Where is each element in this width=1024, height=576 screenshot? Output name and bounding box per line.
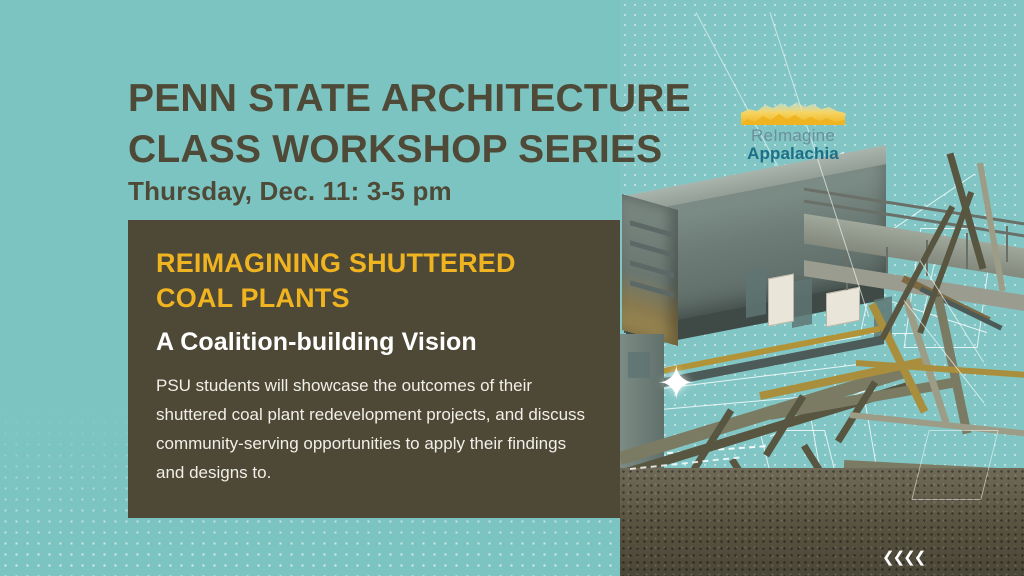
panel-body-text: PSU students will showcase the outcomes …	[156, 372, 590, 488]
event-details-panel: REIMAGINING SHUTTERED COAL PLANTS A Coal…	[128, 220, 620, 518]
panel-title-line-2: COAL PLANTS	[156, 281, 590, 316]
panel-title-line-1: REIMAGINING SHUTTERED	[156, 246, 590, 281]
headline-line-1: PENN STATE ARCHITECTURE	[128, 74, 728, 125]
page-title: PENN STATE ARCHITECTURE CLASS WORKSHOP S…	[128, 74, 728, 175]
sparkle-icon: ✦	[657, 360, 696, 406]
logo-line-2: Appalachia	[737, 145, 849, 163]
chevron-left-icon: ❮❮❮❮	[882, 548, 924, 566]
event-dateline: Thursday, Dec. 11: 3-5 pm	[128, 176, 452, 207]
flyer-canvas: ✦ ❮❮❮❮ PENN STATE ARCHITECTURE CLASS WOR…	[0, 0, 1024, 576]
photo-signage-rbv	[768, 273, 794, 326]
panel-subtitle: A Coalition-building Vision	[156, 328, 590, 357]
logo-line-1: ReImagine	[737, 127, 849, 145]
headline-line-2: CLASS WORKSHOP SERIES	[128, 125, 728, 176]
mountain-ridge-icon	[737, 98, 849, 128]
reimagine-appalachia-logo[interactable]: ReImagine Appalachia	[737, 98, 849, 163]
panel-title: REIMAGINING SHUTTERED COAL PLANTS	[156, 246, 590, 316]
